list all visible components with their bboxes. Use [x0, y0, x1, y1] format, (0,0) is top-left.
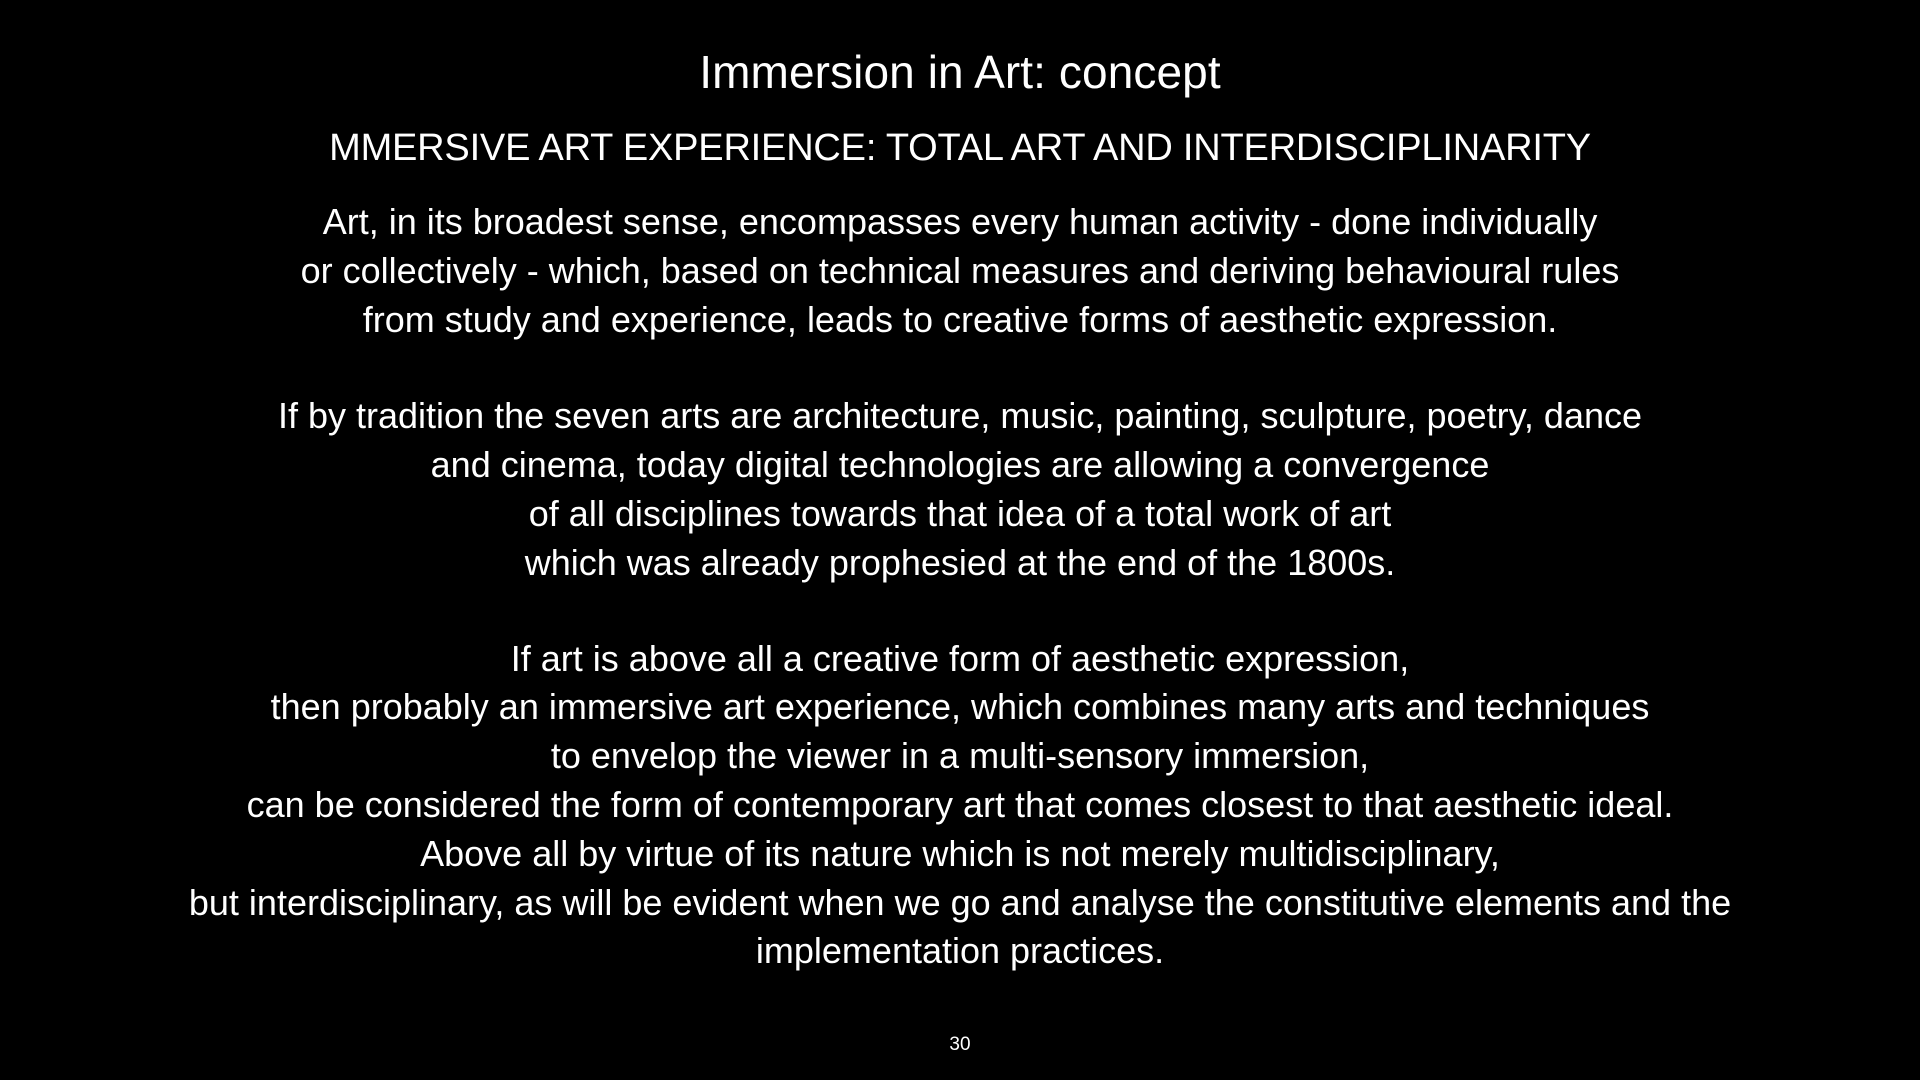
paragraph-line: which was already prophesied at the end …: [0, 539, 1920, 588]
paragraph-line: If by tradition the seven arts are archi…: [0, 392, 1920, 441]
paragraph-line: implementation practices.: [0, 927, 1920, 976]
paragraph-line: from study and experience, leads to crea…: [0, 296, 1920, 345]
paragraph-line: Above all by virtue of its nature which …: [0, 830, 1920, 879]
paragraph-line: then probably an immersive art experienc…: [0, 683, 1920, 732]
paragraph-line: to envelop the viewer in a multi-sensory…: [0, 732, 1920, 781]
page-title: Immersion in Art: concept: [0, 0, 1920, 95]
slide-subtitle: MMERSIVE ART EXPERIENCE: TOTAL ART AND I…: [0, 95, 1920, 167]
paragraph-line: and cinema, today digital technologies a…: [0, 441, 1920, 490]
paragraph-line: Art, in its broadest sense, encompasses …: [0, 198, 1920, 247]
paragraph-line: or collectively - which, based on techni…: [0, 247, 1920, 296]
paragraph-line: but interdisciplinary, as will be eviden…: [0, 879, 1920, 928]
paragraph-line: of all disciplines towards that idea of …: [0, 490, 1920, 539]
paragraph-immersive-art-as-ideal: If art is above all a creative form of a…: [0, 588, 1920, 977]
paragraph-line: can be considered the form of contempora…: [0, 781, 1920, 830]
page-number: 30: [0, 1034, 1920, 1056]
presentation-slide: Immersion in Art: concept MMERSIVE ART E…: [0, 0, 1920, 1080]
paragraph-seven-arts-and-convergence: If by tradition the seven arts are archi…: [0, 344, 1920, 587]
paragraph-definition-of-art: Art, in its broadest sense, encompasses …: [0, 167, 1920, 344]
paragraph-line: If art is above all a creative form of a…: [0, 635, 1920, 684]
